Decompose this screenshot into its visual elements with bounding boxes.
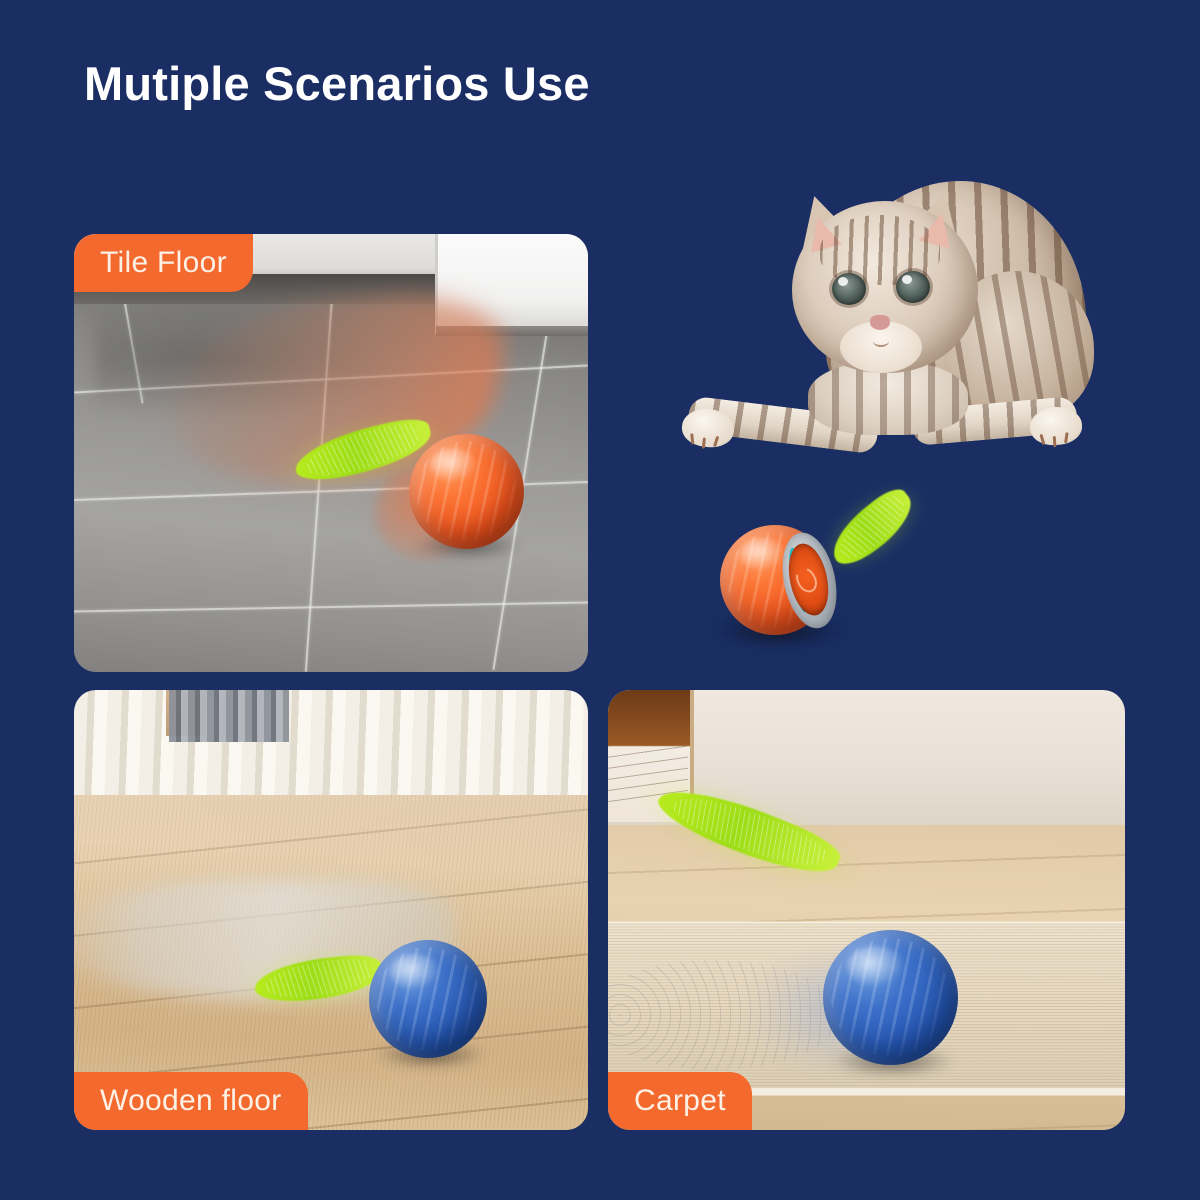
page-title: Mutiple Scenarios Use (84, 58, 590, 110)
tile-floor-photo (74, 234, 588, 672)
cat-eye-right (896, 271, 930, 303)
ball-toy-icon (720, 525, 830, 635)
cat-eye-highlight-right (902, 275, 912, 284)
radiator (169, 690, 289, 742)
cat-mouth (873, 335, 889, 347)
cat-nose (870, 315, 890, 330)
grout-line (74, 602, 588, 613)
badge-tile-floor: Tile Floor (74, 234, 253, 292)
curtain (74, 690, 588, 795)
carpet-photo (608, 690, 1125, 1130)
infographic-canvas: Mutiple Scenarios Use (0, 0, 1200, 1200)
scenario-panel-tile[interactable]: Tile Floor (74, 234, 588, 672)
cat-eye-highlight-left (838, 277, 848, 286)
scenario-panel-carpet[interactable]: Carpet (608, 690, 1125, 1130)
feather-icon (253, 952, 384, 1005)
ball-toy-icon (823, 930, 958, 1065)
ball-toy-icon (369, 940, 487, 1058)
scenario-panel-wooden[interactable]: Wooden floor (74, 690, 588, 1130)
badge-wooden-floor: Wooden floor (74, 1072, 308, 1130)
badge-carpet: Carpet (608, 1072, 752, 1130)
ball-toy-icon (409, 434, 524, 549)
cat-eye-left (832, 273, 866, 305)
feather-icon (822, 482, 922, 573)
cat-icon (680, 175, 1100, 480)
wooden-floor-photo (74, 690, 588, 1130)
